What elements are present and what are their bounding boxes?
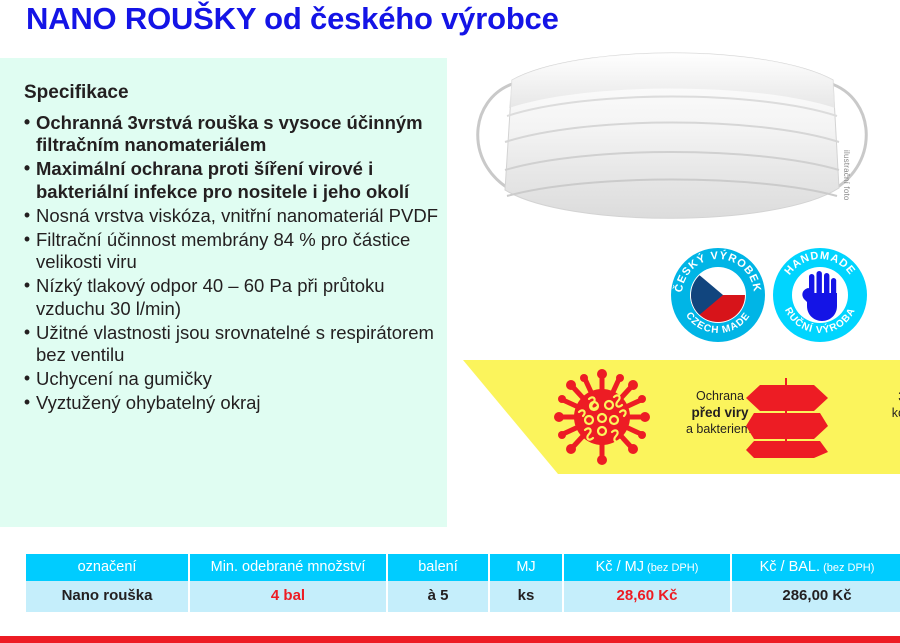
price-table: označeníMin. odebrané množstvíbaleníMJKč… (24, 554, 900, 612)
bullet-icon: • (18, 112, 36, 134)
product-photo (447, 0, 900, 250)
specification-item: •Maximální ochrana proti šíření virové i… (18, 158, 438, 202)
table-header-row: označeníMin. odebrané množstvíbaleníMJKč… (26, 554, 900, 581)
virus-icon (552, 368, 652, 466)
table-column-header: MJ (490, 554, 562, 581)
table-cell: à 5 (388, 581, 488, 612)
face-mask-image (457, 38, 887, 238)
table-row: Nano rouška4 balà 5ks28,60 Kč286,00 Kč (26, 581, 900, 612)
photo-caption: ilustrační foto (837, 150, 851, 230)
specification-item-label: Uchycení na gumičky (36, 368, 438, 390)
specification-item: •Nízký tlakový odpor 40 – 60 Pa při průt… (18, 275, 438, 319)
handmade-badge-icon: HANDMADE RUČNÍ VÝROBA (768, 243, 872, 347)
layers-text-line3: roušky (872, 421, 900, 437)
table-column-header: Min. odebrané množství (190, 554, 386, 581)
specification-item: •Nosná vrstva viskóza, vnitřní nanomater… (18, 205, 438, 227)
column-header-label: Min. odebrané množství (211, 559, 366, 575)
feature-banner: Ochrana před viry a bakteriemi 3vrstvá k… (452, 360, 900, 474)
table-cell: 286,00 Kč (732, 581, 900, 612)
face-mask-icon (457, 38, 887, 238)
specification-panel: Specifikace •Ochranná 3vrstvá rouška s v… (0, 58, 447, 527)
czech-made-badge-icon: ČESKÝ VÝROBEK CZECH MADE (666, 243, 770, 347)
layers-text-line1: 3vrstvá (872, 388, 900, 405)
bullet-icon: • (18, 158, 36, 180)
table-cell: Nano rouška (26, 581, 188, 612)
specification-item-label: Vyztužený ohybatelný okraj (36, 392, 438, 414)
table-column-header: balení (388, 554, 488, 581)
table-body: Nano rouška4 balà 5ks28,60 Kč286,00 Kč (26, 581, 900, 612)
bullet-icon: • (18, 275, 36, 297)
column-header-label: označení (78, 559, 137, 575)
column-header-label: Kč / BAL. (760, 559, 820, 575)
table-column-header: Kč / BAL. (bez DPH) (732, 554, 900, 581)
specification-item-label: Užitné vlastnosti jsou srovnatelné s res… (36, 322, 438, 366)
column-header-label: MJ (516, 559, 535, 575)
layers-construction-text: 3vrstvá konstrukce roušky (872, 388, 900, 437)
specification-item-label: Maximální ochrana proti šíření virové i … (36, 158, 438, 202)
column-header-label: balení (418, 559, 458, 575)
table-cell: ks (490, 581, 562, 612)
table-column-header: Kč / MJ (bez DPH) (564, 554, 730, 581)
specification-heading: Specifikace (24, 82, 129, 104)
badge-czech-made: ČESKÝ VÝROBEK CZECH MADE (666, 243, 770, 347)
column-header-note: (bez DPH) (644, 562, 698, 574)
specification-item: •Uchycení na gumičky (18, 368, 438, 390)
specification-item: •Filtrační účinnost membrány 84 % pro čá… (18, 229, 438, 273)
badge-handmade: HANDMADE RUČNÍ VÝROBA (768, 243, 872, 347)
specification-item-label: Filtrační účinnost membrány 84 % pro čás… (36, 229, 438, 273)
specification-item-label: Nízký tlakový odpor 40 – 60 Pa při průto… (36, 275, 438, 319)
specification-item: •Užitné vlastnosti jsou srovnatelné s re… (18, 322, 438, 366)
column-header-label: Kč / MJ (596, 559, 644, 575)
column-header-note: (bez DPH) (820, 562, 874, 574)
three-layer-icon (742, 382, 832, 460)
table-cell: 4 bal (190, 581, 386, 612)
table-cell: 28,60 Kč (564, 581, 730, 612)
footer-bar (0, 636, 900, 643)
specification-item-label: Ochranná 3vrstvá rouška s vysoce účinným… (36, 112, 438, 156)
bullet-icon: • (18, 322, 36, 344)
bullet-icon: • (18, 205, 36, 227)
bullet-icon: • (18, 229, 36, 251)
specification-item: •Vyztužený ohybatelný okraj (18, 392, 438, 414)
bullet-icon: • (18, 392, 36, 414)
table-column-header: označení (26, 554, 188, 581)
specification-item-label: Nosná vrstva viskóza, vnitřní nanomateri… (36, 205, 438, 227)
specification-list: •Ochranná 3vrstvá rouška s vysoce účinný… (18, 112, 438, 416)
layers-text-line2: konstrukce (872, 405, 900, 421)
specification-item: •Ochranná 3vrstvá rouška s vysoce účinný… (18, 112, 438, 156)
bullet-icon: • (18, 368, 36, 390)
